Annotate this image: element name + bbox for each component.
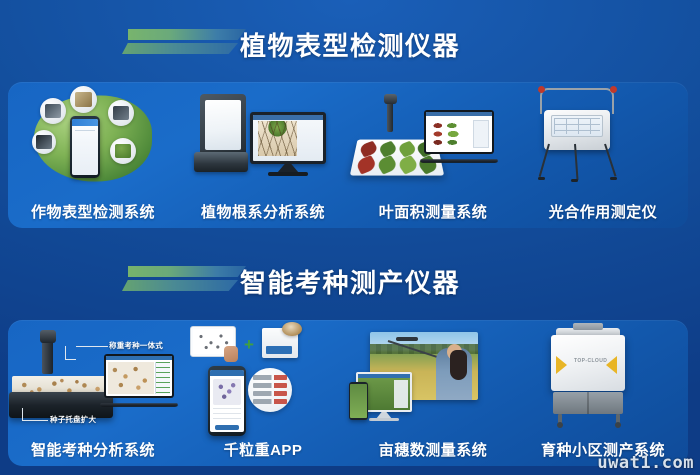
chevron-right-accent <box>606 356 617 374</box>
product-label: 光合作用测定仪 <box>549 201 658 222</box>
sensor-bubble-2 <box>32 130 56 154</box>
root-scanner-illustration <box>178 82 348 201</box>
section-title-smart-seed-testing: 智能考种测产仪器 <box>0 255 700 307</box>
hand-icon <box>224 346 238 362</box>
tripod-foot-2 <box>571 179 578 182</box>
chevron-left-accent <box>556 356 567 374</box>
mobile-client-device <box>349 382 368 420</box>
section-title-plant-phenotype: 植物表型检测仪器 <box>0 18 700 70</box>
sample-hopper <box>573 323 603 330</box>
callout-leader-1 <box>76 346 108 347</box>
seed-analyzer-illustration: 称重考种一体式 种子托盘扩大 <box>8 320 178 439</box>
section-title-text: 植物表型检测仪器 <box>240 26 460 63</box>
weighing-scale <box>262 328 298 358</box>
handle-knob-left <box>538 86 545 93</box>
callout-leader-2 <box>22 420 48 421</box>
tripod-leg-3 <box>604 144 616 177</box>
scanner-lid <box>200 94 246 156</box>
tripod-foot-3 <box>610 177 617 180</box>
phone-app-device <box>208 366 246 436</box>
product-label: 千粒重APP <box>224 439 303 460</box>
caster-wheel-right <box>615 422 621 428</box>
product-label: 亩穗数测量系统 <box>379 439 488 460</box>
callout-elbow-1 <box>65 346 76 360</box>
mobile-app-device <box>70 116 100 178</box>
product-card-root-scanner[interactable]: 植物根系分析系统 <box>178 82 348 228</box>
product-label: 智能考种分析系统 <box>31 439 155 460</box>
breeding-yield-illustration: TOP-CLOUD <box>518 320 688 439</box>
product-label: 作物表型检测系统 <box>31 201 155 222</box>
section-title-text: 智能考种测产仪器 <box>240 263 460 300</box>
callout-label-1: 称重考种一体式 <box>109 340 163 351</box>
result-readout-bubble <box>248 368 292 412</box>
instrument-screen <box>551 115 603 137</box>
product-card-photosynthesis[interactable]: 光合作用测定仪 <box>518 82 688 228</box>
product-panel-smart-seed-testing: 称重考种一体式 种子托盘扩大 智能考种分析系统 + <box>8 320 688 466</box>
product-label: 植物根系分析系统 <box>201 201 325 222</box>
plus-icon: + <box>244 336 254 353</box>
product-card-tgw-app[interactable]: + <box>178 320 348 466</box>
analysis-monitor <box>250 112 326 164</box>
handle-knob-right <box>610 86 617 93</box>
scanner-body <box>194 152 248 172</box>
caster-wheel-left <box>557 422 563 428</box>
brand-logo-text: TOP-CLOUD <box>574 358 607 364</box>
analyzer-camera-head <box>40 330 56 343</box>
sensor-bubble-3 <box>70 86 97 113</box>
product-panel-plant-phenotype: 作物表型检测系统 <box>8 82 688 228</box>
title-decoration-bars <box>122 264 250 298</box>
poster-root: 植物表型检测仪器 <box>0 0 700 475</box>
cabinet-stand <box>553 392 623 414</box>
leaf-area-illustration <box>348 82 518 201</box>
sensor-bubble-1 <box>40 98 66 124</box>
photosynthesis-illustration <box>518 82 688 201</box>
crop-phenotype-illustration <box>8 82 178 201</box>
product-card-crop-phenotype[interactable]: 作物表型检测系统 <box>8 82 178 228</box>
callout-label-2: 种子托盘扩大 <box>50 414 96 425</box>
sensor-bubble-5 <box>110 138 136 164</box>
site-watermark: uwat1.com <box>597 453 694 473</box>
tgw-app-illustration: + <box>178 320 348 439</box>
analyzer-laptop <box>100 354 178 404</box>
product-card-seed-analyzer[interactable]: 称重考种一体式 种子托盘扩大 智能考种分析系统 <box>8 320 178 466</box>
product-card-leaf-area[interactable]: 叶面积测量系统 <box>348 82 518 228</box>
product-card-spike-count[interactable]: 亩穗数测量系统 <box>348 320 518 466</box>
product-card-breeding-yield[interactable]: TOP-CLOUD 育种小区测产系统 <box>518 320 688 466</box>
title-decoration-bars <box>122 27 250 61</box>
analysis-laptop <box>420 110 498 160</box>
callout-elbow-2 <box>22 408 34 420</box>
sensor-bubble-4 <box>108 100 134 126</box>
spike-count-illustration <box>348 320 518 439</box>
camera-head <box>384 94 397 104</box>
tripod-foot-1 <box>538 177 545 180</box>
product-label: 叶面积测量系统 <box>379 201 488 222</box>
camera-arm <box>387 102 393 132</box>
